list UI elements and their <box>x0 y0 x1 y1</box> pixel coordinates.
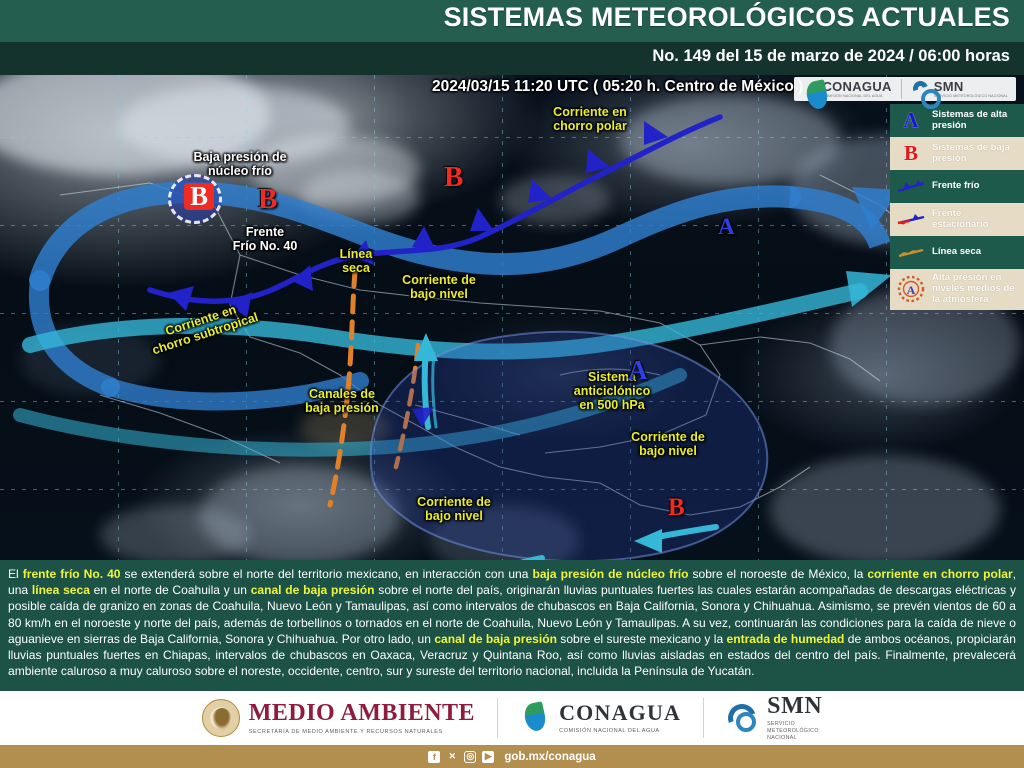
header-bar: SISTEMAS METEOROLÓGICOS ACTUALES <box>0 0 1024 42</box>
marker-low-pressure-southeast: B <box>668 495 685 520</box>
annotation-anticyclone-500: Sistema anticiclónico en 500 hPa <box>552 370 672 412</box>
cold-front-icon <box>896 179 926 195</box>
conagua-logo: CONAGUA COMISIÓN NACIONAL DEL AGUA <box>802 79 891 99</box>
annotation-low-channels: Canales de baja presión <box>282 387 402 415</box>
legend-item-low-pressure: B Sistemas de baja presión <box>890 137 1024 170</box>
annotation-cold-core-low: Baja presión de núcleo frío <box>160 150 320 178</box>
legend-item-high-pressure: A Sistemas de alta presión <box>890 104 1024 137</box>
conagua-logo-name: CONAGUA <box>822 79 891 94</box>
smn-logo: SMN SERVICIO METEOROLÓGICO NACIONAL <box>911 79 1008 98</box>
legend-item-cold-front: Frente frío <box>890 170 1024 203</box>
legend-item-stationary-front: Frente estacionario <box>890 203 1024 236</box>
annotation-dry-line: Línea seca <box>325 247 387 275</box>
footer-logos: MEDIO AMBIENTE SECRETARÍA DE MEDIO AMBIE… <box>0 691 1024 745</box>
annotation-low-level-2: Corriente de bajo nivel <box>608 430 728 458</box>
smn-footer-subtitle: SERVICIO METEOROLÓGICO NACIONAL <box>767 721 822 743</box>
legend-label-stationary-front: Frente estacionario <box>932 209 1019 231</box>
annotation-low-level-3: Corriente de bajo nivel <box>394 495 514 523</box>
discussion-text-block: El frente frío No. 40 se extenderá sobre… <box>0 560 1024 691</box>
conagua-footer-subtitle: COMISIÓN NACIONAL DEL AGUA <box>559 728 681 734</box>
annotation-cold-front-40: Frente Frío No. 40 <box>200 225 330 253</box>
discussion-paragraph: El frente frío No. 40 se extenderá sobre… <box>8 566 1016 679</box>
marker-low-pressure-cold-core: B <box>184 183 214 210</box>
spiral-icon <box>911 79 930 98</box>
legend-item-mid-level-high: A Alta presión en niveles medios de la a… <box>890 269 1024 310</box>
conagua-footer-logo: CONAGUA COMISIÓN NACIONAL DEL AGUA <box>520 701 681 735</box>
conagua-logo-subtitle: COMISIÓN NACIONAL DEL AGUA <box>822 94 891 98</box>
legend-label-high-pressure: Sistemas de alta presión <box>932 110 1019 132</box>
gobmx-url[interactable]: gob.mx/conagua <box>504 751 595 763</box>
timestamp-label: 2024/03/15 11:20 UTC ( 05:20 h. Centro d… <box>432 78 803 96</box>
dry-line-icon <box>896 245 926 261</box>
legend-label-cold-front: Frente frío <box>932 181 979 192</box>
footer-divider <box>703 698 704 738</box>
annotation-jet-polar: Corriente en chorro polar <box>530 105 650 133</box>
water-drop-icon <box>520 701 550 735</box>
smn-logo-subtitle: SERVICIO METEOROLÓGICO NACIONAL <box>934 94 1008 98</box>
letter-B-icon: B <box>896 143 926 164</box>
smn-footer-logo: SMN SERVICIO METEOROLÓGICO NACIONAL <box>726 694 822 743</box>
legend-item-dry-line: Línea seca <box>890 236 1024 269</box>
social-bar: f ✕ ◎ ▶ gob.mx/conagua <box>0 745 1024 768</box>
map-agency-logos: CONAGUA COMISIÓN NACIONAL DEL AGUA SMN S… <box>794 77 1016 101</box>
instagram-icon[interactable]: ◎ <box>464 751 476 763</box>
annotation-low-level-1: Corriente de bajo nivel <box>380 273 498 301</box>
medio-ambiente-subtitle: SECRETARÍA DE MEDIO AMBIENTE Y RECURSOS … <box>249 729 475 735</box>
water-drop-icon <box>802 79 818 99</box>
header-subbar: No. 149 del 15 de marzo de 2024 / 06:00 … <box>0 42 1024 75</box>
conagua-footer-name: CONAGUA <box>559 702 681 724</box>
legend-panel: A Sistemas de alta presión B Sistemas de… <box>890 104 1024 310</box>
marker-high-pressure-atlantic: A <box>718 215 735 238</box>
youtube-icon[interactable]: ▶ <box>482 751 494 763</box>
footer-divider <box>497 698 498 738</box>
x-twitter-icon[interactable]: ✕ <box>446 751 458 763</box>
svg-text:A: A <box>907 283 916 297</box>
weather-bulletin-page: SISTEMAS METEOROLÓGICOS ACTUALES No. 149… <box>0 0 1024 768</box>
bulletin-number: No. 149 del 15 de marzo de 2024 / 06:00 … <box>652 47 1010 66</box>
page-title: SISTEMAS METEOROLÓGICOS ACTUALES <box>444 2 1010 33</box>
national-seal-icon <box>202 699 240 737</box>
marker-low-pressure-north: B <box>258 185 277 214</box>
marker-low-pressure-gulf: B <box>444 163 463 192</box>
marker-high-pressure-caribbean: A <box>628 357 648 384</box>
medio-ambiente-logo: MEDIO AMBIENTE SECRETARÍA DE MEDIO AMBIE… <box>202 699 475 737</box>
legend-label-mid-level-high: Alta presión en niveles medios de la atm… <box>932 273 1019 306</box>
facebook-icon[interactable]: f <box>428 751 440 763</box>
letter-A-icon: A <box>896 110 926 131</box>
medio-ambiente-name: MEDIO AMBIENTE <box>249 701 475 725</box>
smn-logo-name: SMN <box>934 79 1008 94</box>
smn-footer-name: SMN <box>767 694 822 718</box>
mid-level-high-icon: A <box>896 275 926 303</box>
legend-label-low-pressure: Sistemas de baja presión <box>932 143 1019 165</box>
satellite-map: 2024/03/15 11:20 UTC ( 05:20 h. Centro d… <box>0 75 1024 560</box>
legend-label-dry-line: Línea seca <box>932 247 981 258</box>
weather-graphics <box>0 75 1024 560</box>
stationary-front-icon <box>896 212 926 228</box>
logo-divider <box>901 79 902 99</box>
spiral-icon <box>726 702 758 734</box>
